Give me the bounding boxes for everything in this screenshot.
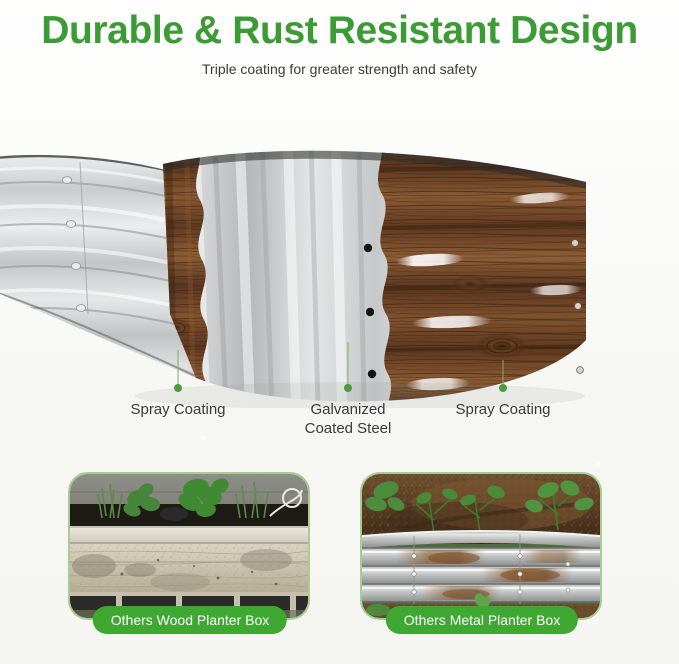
callout-dot [344, 384, 352, 392]
leader-line [178, 350, 179, 386]
callout-group: Spray Coating Galvanized Coated Steel Sp… [0, 350, 679, 465]
page-subtitle: Triple coating for greater strength and … [0, 60, 679, 78]
page-title: Durable & Rust Resistant Design [0, 8, 679, 54]
comparison-card-wood[interactable] [68, 472, 310, 620]
leader-line [348, 342, 349, 386]
header: Durable & Rust Resistant Design Triple c… [0, 0, 679, 78]
leader-line [503, 360, 504, 386]
comparison-section: Others Wood Planter Box Others Metal Pla… [0, 472, 679, 652]
callout-label: Spray Coating [455, 400, 550, 419]
callout-dot [174, 384, 182, 392]
pill-others-metal-planter-box: Others Metal Planter Box [386, 606, 578, 634]
callout-label: Galvanized Coated Steel [305, 400, 392, 438]
callout-label: Spray Coating [130, 400, 225, 419]
callout-label-line1: Galvanized [305, 400, 392, 419]
callout-label-line2: Coated Steel [305, 419, 392, 438]
pill-others-wood-planter-box: Others Wood Planter Box [93, 606, 287, 634]
callout-dot [499, 384, 507, 392]
comparison-card-metal[interactable] [360, 472, 602, 620]
infographic-page: Durable & Rust Resistant Design Triple c… [0, 0, 679, 664]
metal-planter-photo [362, 474, 600, 618]
wood-planter-photo [70, 474, 308, 618]
